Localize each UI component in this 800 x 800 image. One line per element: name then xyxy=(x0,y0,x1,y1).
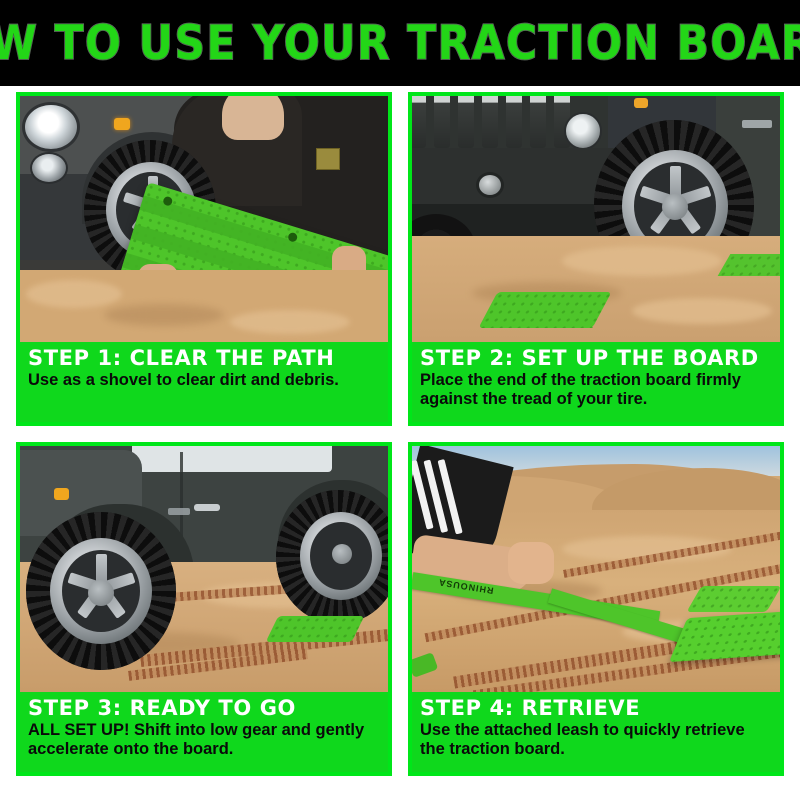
grille-slat xyxy=(434,96,450,148)
grille-slat xyxy=(506,96,522,148)
sand-highlight xyxy=(632,298,772,324)
board-tread-texture xyxy=(266,616,365,642)
person-hand xyxy=(508,542,554,584)
sand-highlight xyxy=(230,310,350,334)
step-4-photo: RHINOUSA xyxy=(412,446,780,692)
header-banner: HOW TO USE YOUR TRACTION BOARDS xyxy=(0,0,800,86)
step-3-heading: STEP 3: READY TO GO xyxy=(28,697,380,720)
traction-board xyxy=(266,616,365,642)
side-marker-light xyxy=(54,488,69,500)
step-card-2: STEP 2: SET UP THE BOARD Place the end o… xyxy=(408,92,784,426)
step-2-heading: STEP 2: SET UP THE BOARD xyxy=(420,347,772,370)
wheel-hub xyxy=(332,544,352,564)
side-marker-light xyxy=(634,98,648,108)
board-tread-texture xyxy=(718,254,780,276)
sand-highlight xyxy=(26,280,122,308)
wheel-hub xyxy=(88,580,114,606)
step-1-body: Use as a shovel to clear dirt and debris… xyxy=(28,371,380,390)
step-2-caption: STEP 2: SET UP THE BOARD Place the end o… xyxy=(412,342,780,422)
grille-slat xyxy=(412,96,426,148)
sand-ground xyxy=(412,236,780,342)
steps-grid: STEP 1: CLEAR THE PATH Use as a shovel t… xyxy=(16,92,784,776)
side-marker-light xyxy=(114,118,130,130)
step-4-body: Use the attached leash to quickly retrie… xyxy=(420,721,772,759)
grille-slat xyxy=(482,96,498,148)
step-4-heading: STEP 4: RETRIEVE xyxy=(420,697,772,720)
sand-shadow xyxy=(104,304,224,326)
board-tread-texture xyxy=(686,586,780,612)
traction-board-far xyxy=(686,586,780,612)
grille-slat xyxy=(458,96,474,148)
traction-board-far xyxy=(718,254,780,276)
headlight-icon xyxy=(564,112,602,150)
board-tread-texture xyxy=(478,292,611,328)
sand-highlight xyxy=(562,246,722,276)
tow-hook-icon xyxy=(476,172,504,198)
door-badge xyxy=(168,508,190,515)
step-3-body: ALL SET UP! Shift into low gear and gent… xyxy=(28,721,380,759)
step-3-photo xyxy=(20,446,388,692)
wheel-hub xyxy=(662,194,688,220)
step-4-caption: STEP 4: RETRIEVE Use the attached leash … xyxy=(412,692,780,772)
fog-lamp-icon xyxy=(30,152,68,184)
step-card-3: STEP 3: READY TO GO ALL SET UP! Shift in… xyxy=(16,442,392,776)
jacket-patch xyxy=(316,148,340,170)
person-head xyxy=(222,96,284,140)
step-1-caption: STEP 1: CLEAR THE PATH Use as a shovel t… xyxy=(20,342,388,422)
sand-ground xyxy=(20,270,388,342)
door-badge xyxy=(742,120,772,128)
page-title: HOW TO USE YOUR TRACTION BOARDS xyxy=(0,19,800,67)
step-3-caption: STEP 3: READY TO GO ALL SET UP! Shift in… xyxy=(20,692,388,772)
infographic-page: HOW TO USE YOUR TRACTION BOARDS xyxy=(0,0,800,800)
step-1-heading: STEP 1: CLEAR THE PATH xyxy=(28,347,380,370)
step-2-body: Place the end of the traction board firm… xyxy=(420,371,772,409)
headlight-icon xyxy=(22,102,80,152)
jeep-window-area xyxy=(132,446,332,472)
step-1-photo xyxy=(20,96,388,342)
traction-board xyxy=(478,292,611,328)
door-handle xyxy=(194,504,220,511)
step-card-1: STEP 1: CLEAR THE PATH Use as a shovel t… xyxy=(16,92,392,426)
grille-slat xyxy=(530,96,546,148)
step-card-4: RHINOUSA STEP 4: RETRIEVE Use the attach… xyxy=(408,442,784,776)
step-2-photo xyxy=(412,96,780,342)
